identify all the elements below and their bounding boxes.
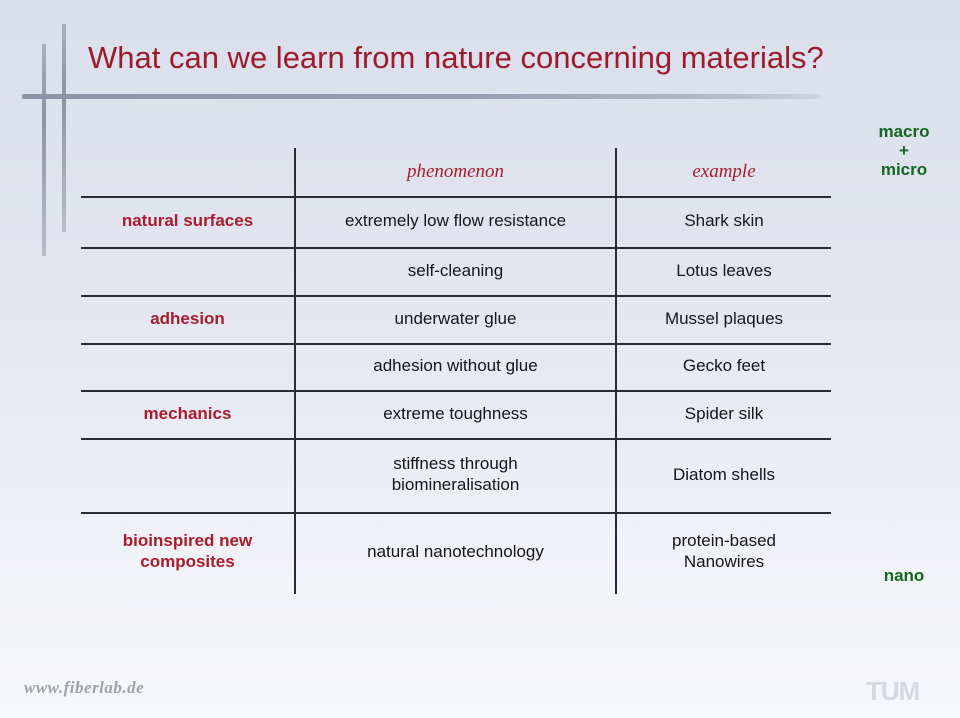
scale-label-macro-line3: micro: [856, 160, 952, 179]
table-row-category: [81, 438, 294, 512]
comparison-table: phenomenon example natural surfaces extr…: [81, 148, 831, 594]
table-row-example: Gecko feet: [617, 343, 831, 390]
table-row-category: [81, 343, 294, 390]
table-row-example: protein-based Nanowires: [617, 512, 831, 592]
table-row-example: Shark skin: [617, 196, 831, 247]
footer-website-url[interactable]: www.fiberlab.de: [24, 678, 144, 698]
table-row-category: natural surfaces: [81, 196, 294, 247]
table-header-example: example: [617, 148, 831, 196]
table-row-example: Mussel plaques: [617, 295, 831, 343]
decorative-horizontal-rule: [22, 94, 820, 99]
table-row-phenomenon: extreme toughness: [296, 390, 615, 438]
table-row-example: Lotus leaves: [617, 247, 831, 295]
table-row-example: Diatom shells: [617, 438, 831, 512]
table-row-category: [81, 247, 294, 295]
decorative-vertical-bar-left: [42, 44, 46, 256]
scale-label-macro-line1: macro: [856, 122, 952, 141]
table-row-example: Spider silk: [617, 390, 831, 438]
page-title: What can we learn from nature concerning…: [88, 40, 824, 76]
scale-label-nano: nano: [856, 566, 952, 585]
table-row-category: adhesion: [81, 295, 294, 343]
table-row-phenomenon: stiffness through biomineralisation: [296, 438, 615, 512]
table-row-category: mechanics: [81, 390, 294, 438]
table-row-phenomenon: self-cleaning: [296, 247, 615, 295]
table-row-phenomenon: adhesion without glue: [296, 343, 615, 390]
slide-canvas: What can we learn from nature concerning…: [0, 0, 960, 718]
scale-label-macro-line2: +: [856, 141, 952, 160]
table-row-phenomenon: underwater glue: [296, 295, 615, 343]
scale-label-macro-micro: macro + micro: [856, 122, 952, 179]
table-row-category: bioinspired new composites: [81, 512, 294, 592]
table-header-phenomenon: phenomenon: [296, 148, 615, 196]
decorative-vertical-bar-right: [62, 24, 66, 232]
tum-logo: TUM: [866, 676, 919, 707]
table-row-phenomenon: extremely low flow resistance: [296, 196, 615, 247]
table-row-phenomenon: natural nanotechnology: [296, 512, 615, 592]
